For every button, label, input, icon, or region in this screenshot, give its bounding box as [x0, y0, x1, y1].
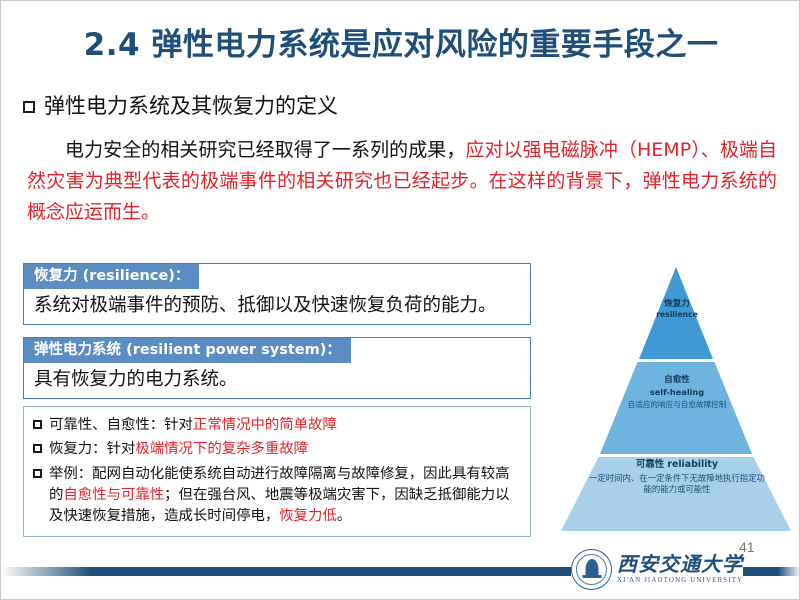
footer-bar-right	[743, 567, 800, 576]
seal-bell-base	[582, 575, 601, 578]
highlight-text: 正常情况中的简单故障	[193, 417, 337, 433]
definition-tab-label: 弹性电力系统 (resilient power system)：	[24, 338, 351, 363]
page-number: 41	[739, 539, 755, 555]
definition-body-text: 具有恢复力的电力系统。	[23, 363, 531, 399]
definition-body-text: 系统对极端事件的预防、抵御以及快速恢复负荷的能力。	[23, 289, 531, 325]
body-paragraph: 电力安全的相关研究已经取得了一系列的成果，应对以强电磁脉冲（HEMP）、极端自然…	[27, 135, 777, 227]
definition-tab-en: (resilient power system)：	[126, 342, 341, 358]
pyramid-bottom-cn: 可靠性 reliability	[636, 459, 718, 470]
slide-canvas: 2.4 弹性电力系统是应对风险的重要手段之一 弹性电力系统及其恢复力的定义 电力…	[0, 0, 800, 600]
list-item: 恢复力：针对极端情况下的复杂多重故障	[33, 439, 521, 460]
square-bullet-icon	[33, 469, 42, 478]
section-heading: 弹性电力系统及其恢复力的定义	[23, 95, 338, 118]
pyramid-top-label: 恢复力 resilience	[639, 299, 715, 320]
definition-tab-cn: 恢复力	[34, 268, 78, 284]
pyramid-top-en: resilience	[639, 311, 715, 320]
definition-tab-row: 弹性电力系统 (resilient power system)：	[23, 337, 531, 363]
resilience-pyramid-diagram: 恢复力 resilience 自愈性 self-healing 自适应的响应与自…	[561, 263, 791, 535]
page-title: 2.4 弹性电力系统是应对风险的重要手段之一	[1, 19, 800, 64]
plain-text: 恢复力：针对	[49, 441, 135, 457]
square-bullet-icon	[33, 444, 42, 453]
footer-bar-left	[1, 567, 571, 576]
definition-box-resilience: 恢复力 (resilience)： 系统对极端事件的预防、抵御以及快速恢复负荷的…	[23, 263, 531, 325]
highlight-text: 自愈性与可靠性	[63, 487, 164, 503]
university-seal-icon	[571, 549, 612, 590]
pyramid-middle-en: self-healing	[617, 388, 737, 398]
bullet-text: 举例：配网自动化能使系统自动进行故障隔离与故障修复，因此具有较高的自愈性与可靠性…	[49, 464, 521, 528]
list-item: 举例：配网自动化能使系统自动进行故障隔离与故障修复，因此具有较高的自愈性与可靠性…	[33, 464, 521, 528]
highlight-text: 极端情况下的复杂多重故障	[135, 441, 308, 457]
definition-tab-en: (resilience)：	[83, 268, 190, 284]
square-bullet-icon	[33, 420, 42, 429]
plain-text: 。	[337, 508, 351, 524]
seal-bell-shape	[585, 559, 598, 576]
comparison-bullet-box: 可靠性、自愈性：针对正常情况中的简单故障 恢复力：针对极端情况下的复杂多重故障 …	[23, 406, 531, 537]
university-logo: 西安交通大学 XI'AN JIAOTONG UNIVERSITY	[571, 544, 747, 594]
pyramid-bottom-label: 可靠性 reliability 一定时间内、在一定条件下无故障地执行指定功能的能…	[589, 459, 765, 495]
paragraph-black-text: 电力安全的相关研究已经取得了一系列的成果，	[65, 139, 465, 161]
square-bullet-icon	[23, 101, 35, 113]
plain-text: 可靠性、自愈性：针对	[49, 417, 193, 433]
bullet-text: 恢复力：针对极端情况下的复杂多重故障	[49, 439, 521, 460]
list-item: 可靠性、自愈性：针对正常情况中的简单故障	[33, 415, 521, 436]
pyramid-bottom-desc: 一定时间内、在一定条件下无故障地执行指定功能的能力或可能性	[589, 473, 765, 495]
university-name-en: XI'AN JIAOTONG UNIVERSITY	[617, 577, 743, 584]
highlight-text: 恢复力低	[279, 508, 337, 524]
university-logo-text: 西安交通大学 XI'AN JIAOTONG UNIVERSITY	[617, 554, 743, 584]
pyramid-middle-desc: 自适应的响应与自愈故障控制	[617, 401, 737, 410]
definition-tab-cn: 弹性电力系统	[34, 342, 121, 358]
definition-box-resilient-power-system: 弹性电力系统 (resilient power system)： 具有恢复力的电…	[23, 337, 531, 399]
definition-tab-label: 恢复力 (resilience)：	[24, 264, 199, 289]
definition-tab-row: 恢复力 (resilience)：	[23, 263, 531, 289]
pyramid-middle-cn: 自愈性	[664, 375, 690, 385]
bullet-text: 可靠性、自愈性：针对正常情况中的简单故障	[49, 415, 521, 436]
pyramid-middle-label: 自愈性 self-healing 自适应的响应与自愈故障控制	[617, 375, 737, 410]
section-heading-label: 弹性电力系统及其恢复力的定义	[44, 95, 338, 118]
university-name-cn: 西安交通大学	[617, 554, 743, 574]
pyramid-top-cn: 恢复力	[664, 299, 690, 309]
